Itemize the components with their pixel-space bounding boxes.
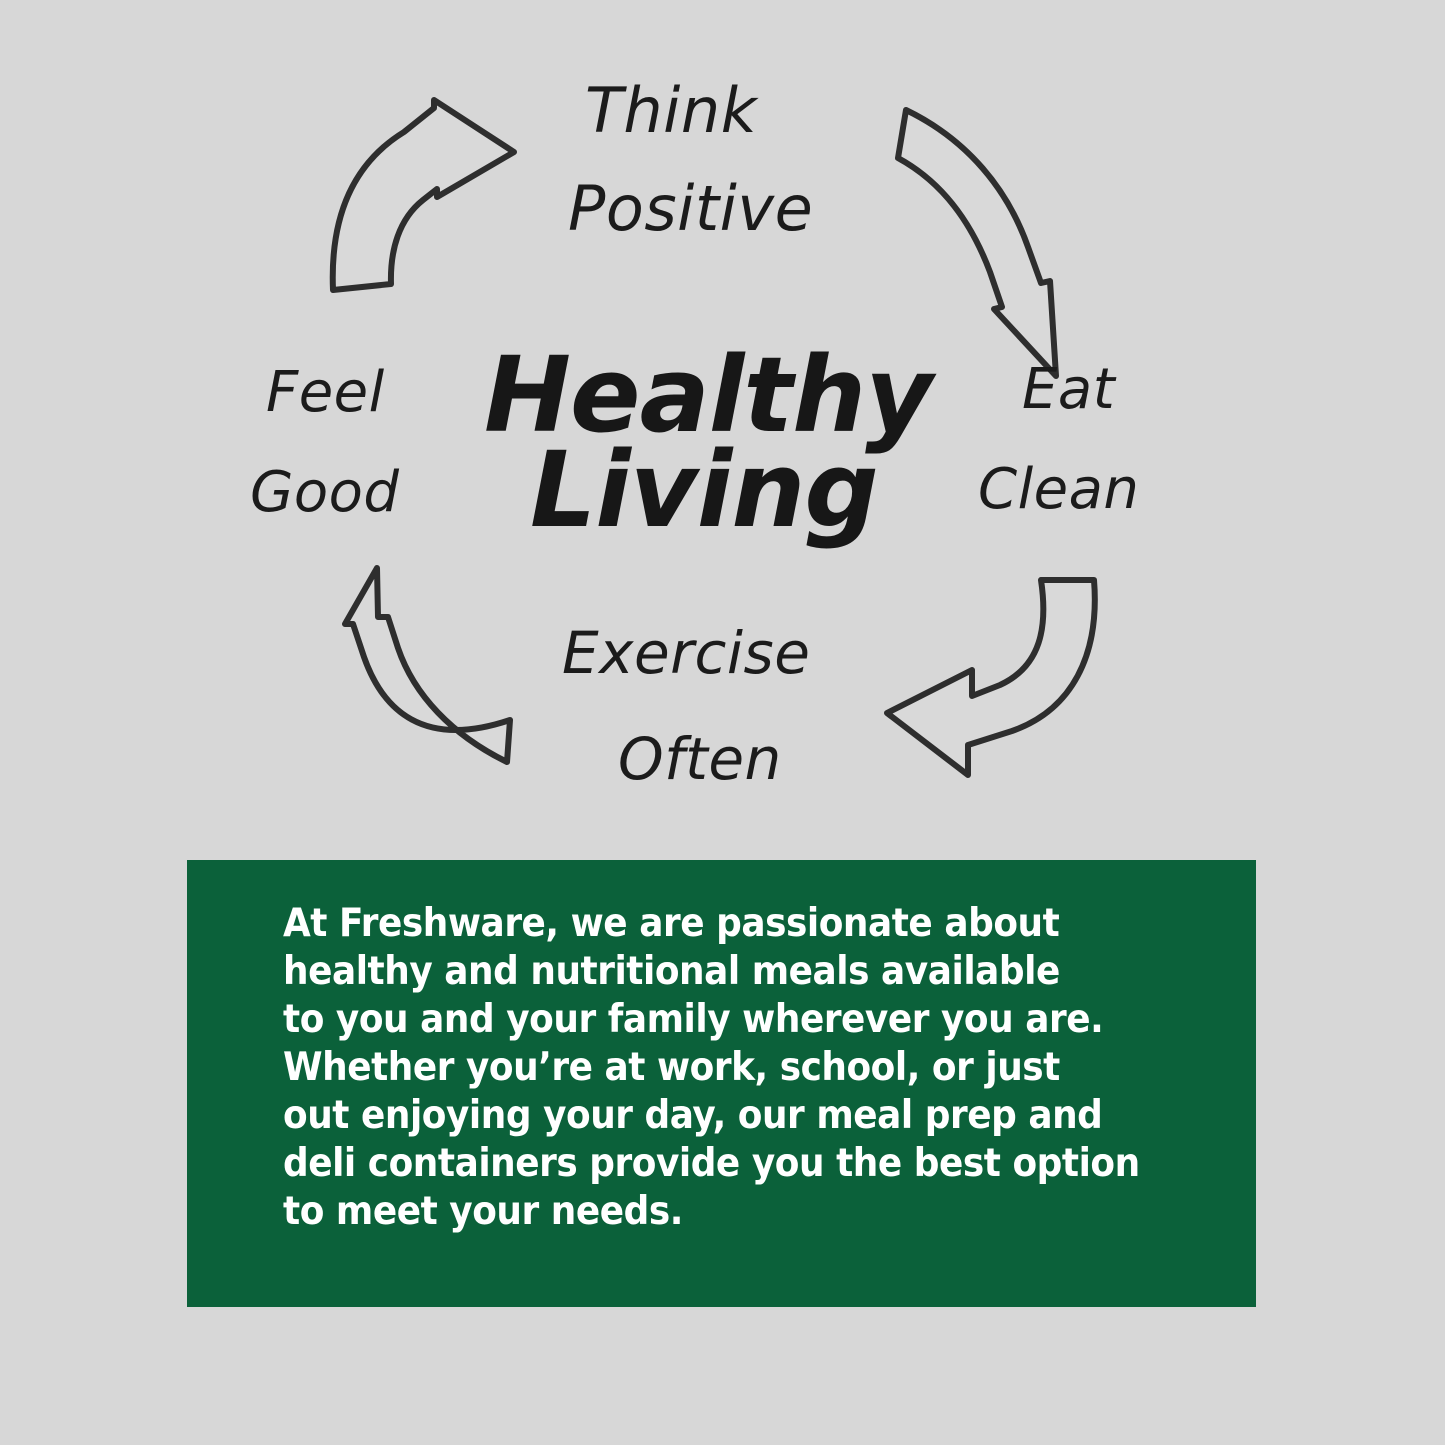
cycle-node-left-line1: Feel — [266, 365, 385, 421]
description-line: deli containers provide you the best opt… — [283, 1140, 1157, 1188]
description-line: to meet your needs. — [283, 1188, 1157, 1236]
curved-arrow-down-left-icon — [887, 580, 1095, 775]
healthy-living-cycle-graphic: Healthy Living Think Positive Eat Clean … — [0, 0, 1445, 845]
cycle-center-title-line2: Living — [530, 438, 878, 542]
cycle-node-right-line1: Eat — [1022, 362, 1115, 418]
cycle-node-top-line1: Think — [585, 80, 757, 142]
description-line: At Freshware, we are passionate about — [283, 900, 1157, 948]
poster-canvas: Healthy Living Think Positive Eat Clean … — [0, 0, 1445, 1445]
description-line: out enjoying your day, our meal prep and — [283, 1092, 1157, 1140]
curved-arrow-up-right-icon — [333, 100, 514, 290]
cycle-node-bottom-line2: Often — [618, 730, 782, 788]
cycle-node-top-line2: Positive — [568, 178, 813, 240]
cycle-node-left-line2: Good — [250, 465, 399, 521]
description-line: healthy and nutritional meals available — [283, 948, 1157, 996]
cycle-node-right-line2: Clean — [978, 462, 1139, 518]
description-line: Whether you’re at work, school, or just — [283, 1044, 1157, 1092]
brand-description-text: At Freshware, we are passionate about he… — [283, 900, 1157, 1236]
curved-arrow-up-left-icon — [345, 568, 510, 762]
cycle-node-bottom-line1: Exercise — [562, 624, 810, 682]
description-line: to you and your family wherever you are. — [283, 996, 1157, 1044]
brand-description-panel: At Freshware, we are passionate about he… — [187, 860, 1256, 1307]
